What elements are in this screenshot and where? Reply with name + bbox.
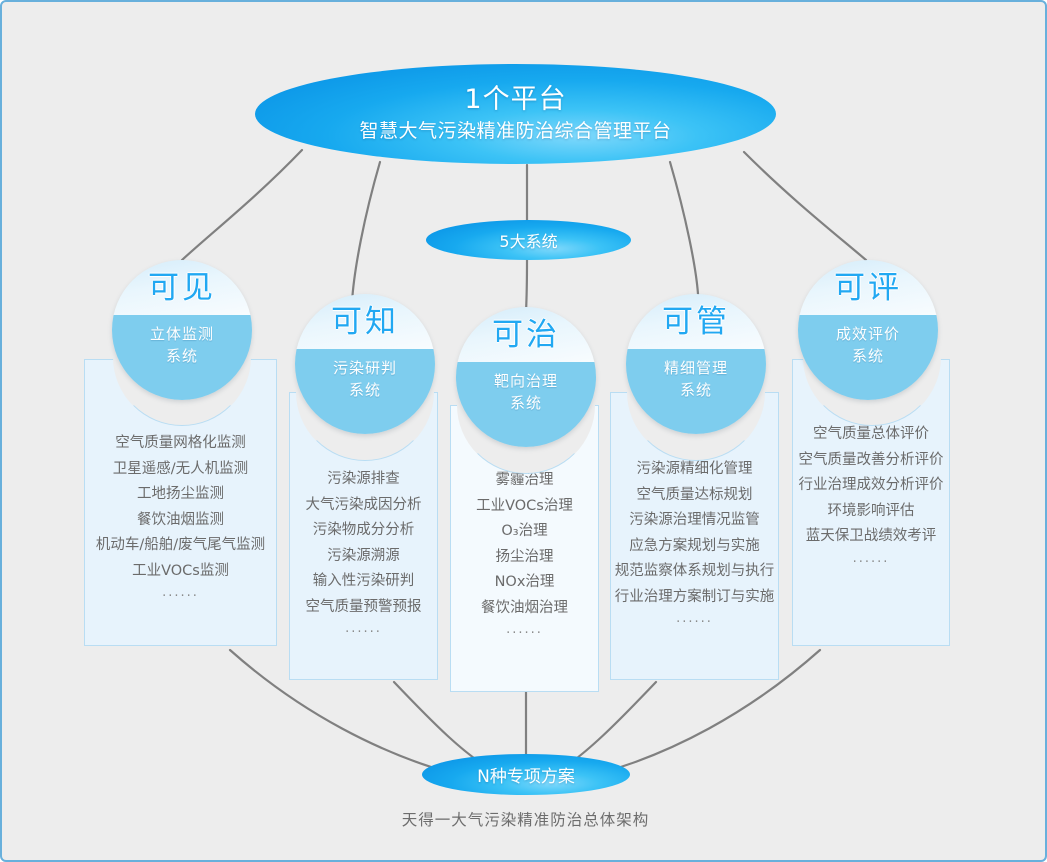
panel-manageable: 污染源精细化管理 空气质量达标规划 污染源治理情况监管 应急方案规划与实施 规范…	[610, 392, 779, 680]
list-item: 工地扬尘监测	[85, 482, 276, 508]
pillar-key-area: 可见	[112, 260, 252, 315]
list-ellipsis: ······	[290, 620, 437, 646]
pillar-key-label: 可评	[834, 271, 902, 305]
list-item: 环境影响评估	[793, 499, 949, 525]
pillar-name-line2: 系统	[510, 392, 542, 414]
list-item: 卫星遥感/无人机监测	[85, 457, 276, 483]
pillar-name-line1: 成效评价	[836, 323, 900, 345]
panel-item-list: 污染源精细化管理 空气质量达标规划 污染源治理情况监管 应急方案规划与实施 规范…	[611, 457, 778, 636]
pillar-key-label: 可治	[492, 318, 560, 352]
list-item: 污染物成分分析	[290, 518, 437, 544]
list-item: 扬尘治理	[451, 545, 598, 571]
panel-treatable: 雾霾治理 工业VOCs治理 O₃治理 扬尘治理 NOx治理 餐饮油烟治理 ···…	[450, 405, 599, 692]
pillar-name-area: 靶向治理 系统	[456, 362, 596, 447]
list-item: NOx治理	[451, 570, 598, 596]
panel-item-list: 空气质量网格化监测 卫星遥感/无人机监测 工地扬尘监测 餐饮油烟监测 机动车/船…	[85, 431, 276, 610]
list-item: 输入性污染研判	[290, 569, 437, 595]
pillar-name-line2: 系统	[349, 379, 381, 401]
list-item: 空气质量达标规划	[611, 483, 778, 509]
pillar-key-area: 可知	[295, 294, 435, 349]
pillar-name-area: 成效评价 系统	[798, 315, 938, 400]
pillar-name-area: 精细管理 系统	[626, 349, 766, 434]
list-item: 空气质量网格化监测	[85, 431, 276, 457]
diagram-canvas: 1个平台 智慧大气污染精准防治综合管理平台 5大系统 空气质量网格化监测 卫星遥…	[0, 0, 1047, 862]
list-ellipsis: ······	[793, 550, 949, 576]
pillar-visible[interactable]: 可见 立体监测 系统	[112, 260, 252, 400]
platform-ellipse: 1个平台 智慧大气污染精准防治综合管理平台	[255, 64, 776, 164]
pillar-key-label: 可见	[148, 271, 216, 305]
platform-subtitle: 智慧大气污染精准防治综合管理平台	[359, 117, 671, 145]
list-item: 空气质量改善分析评价	[793, 448, 949, 474]
list-item: 机动车/船舶/废气尾气监测	[85, 533, 276, 559]
pillar-name-line2: 系统	[680, 379, 712, 401]
list-item: 餐饮油烟监测	[85, 508, 276, 534]
pillar-name-line1: 精细管理	[664, 357, 728, 379]
panel-item-list: 空气质量总体评价 空气质量改善分析评价 行业治理成效分析评价 环境影响评估 蓝天…	[793, 422, 949, 575]
solutions-count-badge: N种专项方案	[422, 754, 630, 795]
list-item: 行业治理方案制订与实施	[611, 585, 778, 611]
panel-assessable: 空气质量总体评价 空气质量改善分析评价 行业治理成效分析评价 环境影响评估 蓝天…	[792, 359, 950, 646]
list-item: 蓝天保卫战绩效考评	[793, 524, 949, 550]
systems-count-label: 5大系统	[499, 228, 557, 252]
list-item: 空气质量预警预报	[290, 595, 437, 621]
pillar-name-line2: 系统	[852, 345, 884, 367]
pillar-name-line1: 靶向治理	[494, 370, 558, 392]
list-item: 行业治理成效分析评价	[793, 473, 949, 499]
list-item: 应急方案规划与实施	[611, 534, 778, 560]
list-item: 污染源治理情况监管	[611, 508, 778, 534]
pillar-name-area: 污染研判 系统	[295, 349, 435, 434]
list-ellipsis: ······	[451, 621, 598, 647]
pillar-name-line1: 立体监测	[150, 323, 214, 345]
list-item: 餐饮油烟治理	[451, 596, 598, 622]
systems-count-badge: 5大系统	[426, 220, 631, 260]
list-ellipsis: ······	[85, 584, 276, 610]
list-item: 工业VOCs监测	[85, 559, 276, 585]
pillar-name-area: 立体监测 系统	[112, 315, 252, 400]
pillar-key-area: 可评	[798, 260, 938, 315]
panel-item-list: 污染源排查 大气污染成因分析 污染物成分分析 污染源溯源 输入性污染研判 空气质…	[290, 467, 437, 646]
pillar-treatable[interactable]: 可治 靶向治理 系统	[456, 307, 596, 447]
pillar-key-area: 可治	[456, 307, 596, 362]
list-item: 规范监察体系规划与执行	[611, 559, 778, 585]
pillar-manageable[interactable]: 可管 精细管理 系统	[626, 294, 766, 434]
list-item: 大气污染成因分析	[290, 493, 437, 519]
platform-title: 1个平台	[464, 83, 566, 117]
pillar-key-area: 可管	[626, 294, 766, 349]
panel-visible: 空气质量网格化监测 卫星遥感/无人机监测 工地扬尘监测 餐饮油烟监测 机动车/船…	[84, 359, 277, 646]
list-item: 污染源排查	[290, 467, 437, 493]
list-ellipsis: ······	[611, 610, 778, 636]
pillar-name-line1: 污染研判	[333, 357, 397, 379]
panel-knowable: 污染源排查 大气污染成因分析 污染物成分分析 污染源溯源 输入性污染研判 空气质…	[289, 392, 438, 680]
list-item: 工业VOCs治理	[451, 494, 598, 520]
pillar-name-line2: 系统	[166, 345, 198, 367]
pillar-key-label: 可知	[331, 305, 399, 339]
panel-item-list: 雾霾治理 工业VOCs治理 O₃治理 扬尘治理 NOx治理 餐饮油烟治理 ···…	[451, 468, 598, 647]
list-item: 污染源溯源	[290, 544, 437, 570]
list-item: O₃治理	[451, 519, 598, 545]
pillar-assessable[interactable]: 可评 成效评价 系统	[798, 260, 938, 400]
pillar-key-label: 可管	[662, 305, 730, 339]
solutions-count-label: N种专项方案	[477, 762, 575, 787]
diagram-caption: 天得一大气污染精准防治总体架构	[2, 808, 1047, 830]
pillar-knowable[interactable]: 可知 污染研判 系统	[295, 294, 435, 434]
